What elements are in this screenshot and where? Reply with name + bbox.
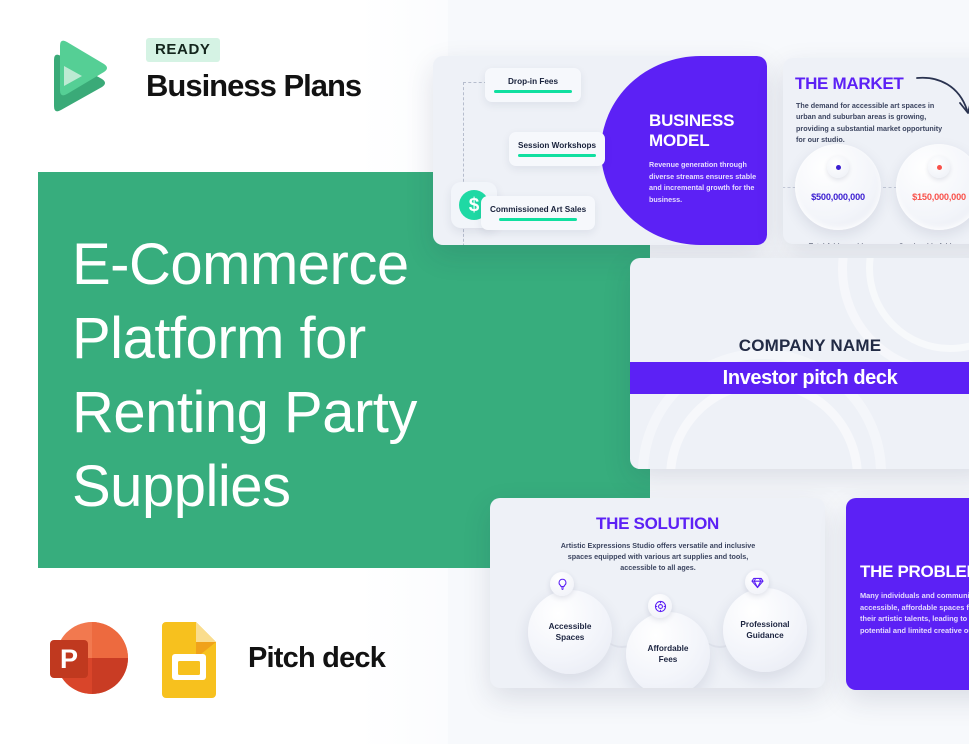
solution-body: Artistic Expressions Studio offers versa… bbox=[552, 540, 764, 574]
revenue-stream-label: Drop-in Fees bbox=[508, 77, 558, 86]
brand-logo[interactable]: READY Business Plans bbox=[38, 36, 338, 116]
market-title: THE MARKET bbox=[795, 74, 903, 94]
lightbulb-icon bbox=[550, 572, 574, 596]
connector-line-vertical bbox=[463, 82, 464, 192]
revenue-stream-chip-3[interactable]: Commissioned Art Sales bbox=[481, 196, 595, 230]
problem-body: Many individuals and communities lack ac… bbox=[860, 590, 969, 636]
slide-the-market[interactable]: THE MARKET The demand for accessible art… bbox=[783, 58, 969, 244]
business-model-body: Revenue generation through diverse strea… bbox=[649, 159, 761, 205]
investor-pitch-band: Investor pitch deck bbox=[630, 362, 969, 394]
slide-investor-pitch-deck[interactable]: COMPANY NAME Investor pitch deck bbox=[630, 258, 969, 469]
market-metric-circle-tam: $500,000,000 bbox=[795, 144, 881, 230]
solution-node-label: Affordable Fees bbox=[648, 643, 689, 665]
target-icon bbox=[648, 594, 672, 618]
metric-caption-tam: Total Addressable Market (TAM) bbox=[791, 242, 885, 244]
solution-node-1[interactable]: Accessible Spaces bbox=[528, 590, 612, 674]
poster-canvas: E-Commerce Platform for Renting Party Su… bbox=[0, 0, 969, 744]
curved-arrow-icon bbox=[915, 72, 969, 122]
revenue-stream-chip-1[interactable]: Drop-in Fees bbox=[485, 68, 581, 102]
slide-the-solution[interactable]: THE SOLUTION Artistic Expressions Studio… bbox=[490, 498, 825, 688]
format-label: Pitch deck bbox=[248, 642, 385, 675]
metric-value-tam: $500,000,000 bbox=[795, 192, 881, 202]
investor-pitch-subtitle: Investor pitch deck bbox=[723, 367, 898, 390]
metric-knob-tam bbox=[827, 156, 849, 178]
revenue-stream-chip-2[interactable]: Session Workshops bbox=[509, 132, 605, 166]
metric-value-sam: $150,000,000 bbox=[896, 192, 969, 202]
ready-badge: READY bbox=[146, 38, 220, 62]
diamond-icon bbox=[745, 570, 769, 594]
solution-node-3[interactable]: Professional Guidance bbox=[723, 588, 807, 672]
solution-title: THE SOLUTION bbox=[490, 514, 825, 534]
google-slides-file-icon bbox=[158, 618, 220, 698]
connector-line-top bbox=[463, 82, 487, 83]
file-format-row: P Pitch deck bbox=[46, 612, 385, 704]
solution-node-2[interactable]: Affordable Fees bbox=[626, 612, 710, 688]
metric-knob-sam bbox=[928, 156, 950, 178]
brand-name: Business Plans bbox=[146, 68, 356, 104]
market-dash-middle bbox=[883, 187, 897, 188]
slide-the-problem[interactable]: THE PROBLEM Many individuals and communi… bbox=[846, 498, 969, 690]
revenue-stream-label: Session Workshops bbox=[518, 141, 596, 150]
metric-caption-sam: Serviceable Addressable Market (SAM) bbox=[892, 242, 969, 244]
problem-title: THE PROBLEM bbox=[860, 562, 969, 582]
solution-node-label: Accessible Spaces bbox=[549, 621, 592, 643]
double-play-triangle-logo-icon bbox=[38, 36, 108, 116]
powerpoint-file-icon: P bbox=[46, 615, 132, 701]
page-title: E-Commerce Platform for Renting Party Su… bbox=[72, 228, 492, 524]
business-model-title: BUSINESS MODEL bbox=[649, 111, 767, 151]
revenue-stream-label: Commissioned Art Sales bbox=[490, 205, 586, 214]
market-metric-circle-sam: $150,000,000 bbox=[896, 144, 969, 230]
svg-text:P: P bbox=[60, 644, 78, 674]
company-name: COMPANY NAME bbox=[630, 336, 969, 356]
solution-node-label: Professional Guidance bbox=[740, 619, 789, 641]
brand-wordmark: READY Business Plans bbox=[146, 38, 356, 104]
